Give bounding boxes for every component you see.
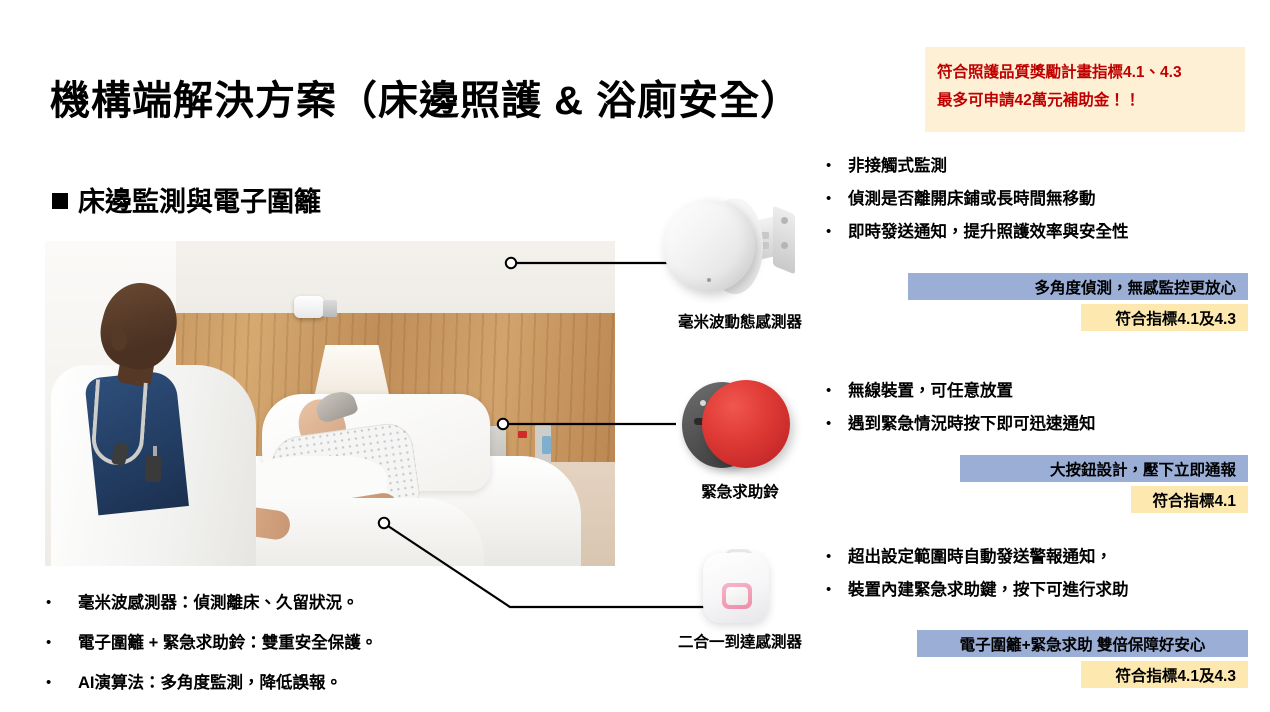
device-caption-two-in-one-tag: 二合一到達感測器 [625,630,855,652]
mmwave-led-dot-icon [707,278,711,282]
photo-iv-indicator [542,436,551,454]
list-item-label: 超出設定範圍時自動發送警報通知， [848,546,1112,568]
feature-list-two-in-one-tag: • 超出設定範圍時自動發送警報通知， • 裝置內建緊急求助鍵，按下可進行求助 [826,546,1129,612]
bullet-glyph: • [826,380,848,402]
list-item: • 毫米波感測器：偵測離床、久留狀況。 [46,592,377,614]
section-heading-label: 床邊監測與電子圍籬 [78,187,321,217]
summary-list: • 毫米波感測器：偵測離床、久留狀況。 • 電子圍籬 + 緊急求助鈴：雙重安全保… [46,592,377,712]
subsidy-notice-box: 符合照護品質獎勵計畫指標4.1、4.3 最多可申請42萬元補助金！！ [925,47,1245,132]
bullet-glyph: • [826,413,848,435]
list-item: • AI演算法：多角度監測，降低誤報。 [46,672,377,694]
feature-list-emergency-button: • 無線裝置，可任意放置 • 遇到緊急情況時按下即可迅速通知 [826,380,1096,446]
hospital-room-photo [45,241,615,566]
list-item-label: 偵測是否離開床鋪或長時間無移動 [848,188,1096,210]
badge-highlight-two-in-one-tag: 電子圍籬+緊急求助 雙倍保障好安心 [917,630,1248,657]
mmwave-bracket-plate [773,206,795,275]
feature-list-mmwave: • 非接觸式監測 • 偵測是否離開床鋪或長時間無移動 • 即時發送通知，提升照護… [826,155,1129,254]
emergency-button-dome [702,380,790,468]
photo-doctor-ear [111,329,127,351]
list-item-label: 遇到緊急情況時按下即可迅速通知 [848,413,1096,435]
device-mmwave-sensor [655,190,835,305]
list-item: • 遇到緊急情況時按下即可迅速通知 [826,413,1096,435]
list-item-label: 無線裝置，可任意放置 [848,380,1013,402]
badge-indicator-two-in-one-tag: 符合指標4.1及4.3 [1081,661,1248,688]
notice-line-1: 符合照護品質獎勵計畫指標4.1、4.3 [937,59,1237,87]
list-item: • 即時發送通知，提升照護效率與安全性 [826,221,1129,243]
photo-mmwave-bracket [323,300,337,317]
list-item-label: 毫米波感測器：偵測離床、久留狀況。 [78,592,359,614]
bullet-glyph: • [826,155,848,177]
bullet-glyph: • [826,221,848,243]
device-two-in-one-tag [695,545,785,630]
list-item: • 無線裝置，可任意放置 [826,380,1096,402]
list-item: • 偵測是否離開床鋪或長時間無移動 [826,188,1129,210]
square-bullet-icon [52,193,68,209]
bullet-glyph: • [46,632,78,654]
photo-id-badge [145,456,161,482]
bullet-glyph: • [826,546,848,568]
photo-id-badge-clip [153,446,157,456]
list-item-label: 即時發送通知，提升照護效率與安全性 [848,221,1129,243]
list-item-label: AI演算法：多角度監測，降低誤報。 [78,672,342,694]
list-item: • 裝置內建緊急求助鍵，按下可進行求助 [826,579,1129,601]
device-caption-emergency-button: 緊急求助鈴 [625,480,855,502]
badge-highlight-emergency-button: 大按鈕設計，壓下立即通報 [960,455,1248,482]
bullet-glyph: • [826,579,848,601]
list-item: • 電子圍籬 + 緊急求助鈴：雙重安全保護。 [46,632,377,654]
badge-indicator-emergency-button: 符合指標4.1 [1131,486,1248,513]
section-heading: 床邊監測與電子圍籬 [52,180,321,219]
list-item-label: 非接觸式監測 [848,155,947,177]
list-item-label: 裝置內建緊急求助鍵，按下可進行求助 [848,579,1129,601]
notice-line-2: 最多可申請42萬元補助金！！ [937,87,1237,115]
device-caption-mmwave: 毫米波動態感測器 [625,310,855,332]
bullet-glyph: • [46,672,78,694]
photo-pump-alarm-led [518,431,527,438]
tag-sos-button [726,587,748,605]
mmwave-bracket-hole-bottom [781,242,788,249]
mmwave-bracket-hole-top [781,217,788,224]
list-item: • 超出設定範圍時自動發送警報通知， [826,546,1129,568]
badge-highlight-mmwave: 多角度偵測，無感監控更放心 [908,273,1248,300]
page-title: 機構端解決方案（床邊照護 & 浴廁安全） [50,68,801,126]
slide-root: 機構端解決方案（床邊照護 & 浴廁安全） 符合照護品質獎勵計畫指標4.1、4.3… [0,0,1270,711]
list-item: • 非接觸式監測 [826,155,1129,177]
badge-indicator-mmwave: 符合指標4.1及4.3 [1081,304,1248,331]
bullet-glyph: • [46,592,78,614]
list-item-label: 電子圍籬 + 緊急求助鈴：雙重安全保護。 [78,632,377,654]
photo-mmwave-sensor [294,296,324,318]
bullet-glyph: • [826,188,848,210]
device-emergency-button [680,378,810,473]
